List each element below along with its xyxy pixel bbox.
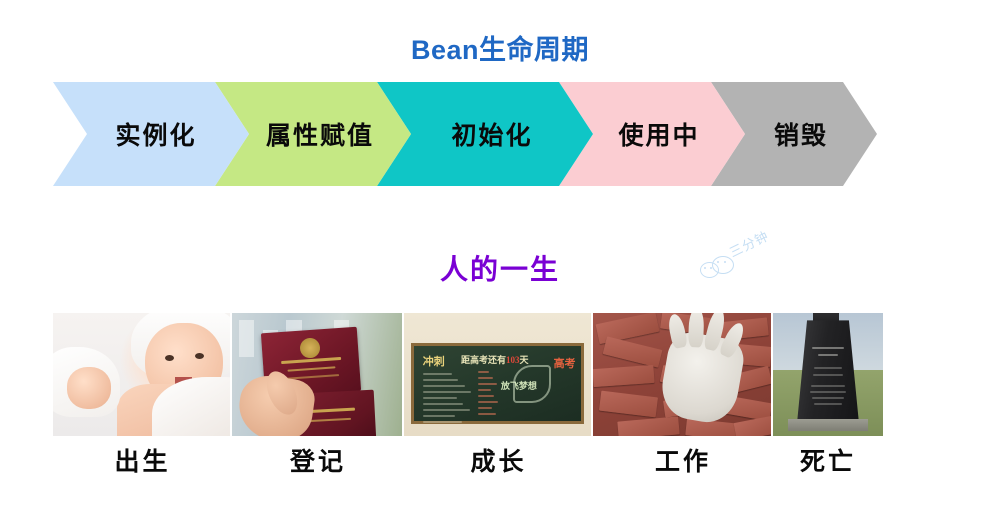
bean-stage-label: 销毁 [774, 116, 828, 152]
bean-stage-1[interactable]: 实例化 [53, 82, 249, 186]
life-photo-5[interactable] [773, 313, 883, 436]
chalk-text-line-red [478, 407, 492, 409]
life-photo-caption-5: 死亡 [773, 442, 883, 478]
chalk-text-line-red [478, 377, 494, 379]
chalk-text-line-red [478, 401, 498, 403]
blackboard-countdown-days: 103 [506, 355, 520, 365]
chalk-text-line-red [478, 395, 495, 397]
human-life-title: 人的一生 [0, 248, 1000, 288]
chalk-flower-drawing [513, 365, 551, 403]
chalk-paragraph-left [423, 373, 473, 427]
epitaph-line [812, 397, 844, 399]
brick-shape [602, 336, 662, 368]
blackboard-right-headline: 高考 [554, 355, 576, 371]
chalk-paragraph-mid [478, 371, 500, 419]
life-photo-1[interactable] [53, 313, 230, 436]
epitaph-line [814, 403, 841, 405]
life-photo-3[interactable]: 冲刺距高考还有103天高考放飞梦想 [404, 313, 591, 436]
chalk-text-line [423, 391, 471, 393]
book-subtitle-line [307, 418, 351, 422]
blackboard-left-headline: 冲刺 [423, 353, 445, 369]
book-title-line [281, 358, 341, 365]
epitaph-line [810, 391, 847, 393]
brick-shape [599, 391, 658, 417]
brick-shape [617, 416, 679, 436]
classroom-blackboard: 冲刺距高考还有103天高考放飞梦想 [411, 343, 583, 424]
chalk-text-line [423, 379, 458, 381]
chalk-text-line [423, 421, 462, 423]
blackboard-photo: 冲刺距高考还有103天高考放飞梦想 [404, 313, 591, 436]
bean-stage-label: 属性赋值 [266, 116, 374, 152]
gravestone-slab [797, 320, 859, 421]
epitaph-line [811, 385, 845, 387]
chalk-text-line [423, 373, 452, 375]
chalk-text-line-red [478, 371, 490, 373]
life-photo-caption-1: 出生 [53, 442, 232, 478]
epitaph-line [814, 367, 842, 369]
bean-lifecycle-chevron-band: 实例化属性赋值初始化使用中销毁 [53, 82, 877, 186]
national-emblem-icon [299, 337, 320, 358]
chalk-text-line-red [478, 389, 491, 391]
life-photo-strip: 冲刺距高考还有103天高考放飞梦想 [53, 313, 883, 436]
chalk-text-line [423, 403, 463, 405]
bean-stage-label: 初始化 [451, 116, 532, 152]
household-register-photo [232, 313, 402, 436]
book-subtitle-line [287, 367, 335, 372]
chalk-text-line [423, 397, 457, 399]
epitaph-line [813, 374, 844, 376]
life-photo-4[interactable] [593, 313, 771, 436]
chalk-text-line-red [478, 383, 497, 385]
bricks-photo [593, 313, 771, 436]
life-caption-row: 出生登记成长工作死亡 [53, 440, 883, 480]
bean-lifecycle-title: Bean生命周期 [0, 28, 1000, 67]
epitaph-line [818, 354, 839, 356]
baby-fist-shape [67, 367, 111, 409]
background-building-shape [239, 320, 254, 357]
life-photo-caption-2: 登记 [232, 442, 404, 478]
life-photo-caption-3: 成长 [404, 442, 593, 478]
baby-photo [53, 313, 230, 436]
glove-finger-shape [688, 313, 704, 348]
chalk-text-line [423, 415, 455, 417]
slide-canvas: Bean生命周期 实例化属性赋值初始化使用中销毁 人的一生 三分钟 冲刺距高考还… [0, 0, 1000, 507]
epitaph-line [812, 347, 844, 349]
chalk-text-line-red [478, 413, 496, 415]
life-photo-2[interactable] [232, 313, 402, 436]
bean-stage-label: 使用中 [618, 116, 699, 152]
gravestone-base [788, 419, 867, 431]
baby-eye-shape [165, 355, 174, 361]
baby-eye-shape [195, 353, 204, 359]
chalk-text-line [423, 385, 465, 387]
blackboard-countdown: 距高考还有103天 [461, 353, 529, 366]
brick-shape [593, 365, 654, 388]
bean-stage-label: 实例化 [115, 116, 196, 152]
life-photo-caption-4: 工作 [593, 442, 773, 478]
brick-shape [595, 313, 658, 344]
gravestone-photo [773, 313, 883, 436]
chalk-text-line [423, 409, 470, 411]
